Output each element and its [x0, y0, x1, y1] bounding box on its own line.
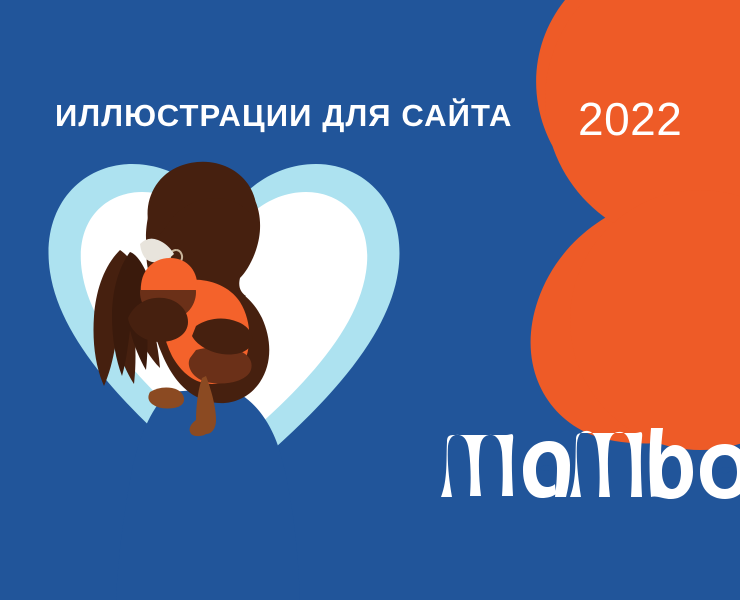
logo-wordmark-glyphs [441, 428, 740, 499]
brand-logo[interactable] [0, 0, 740, 600]
page-title: ИЛЛЮСТРАЦИИ ДЛЯ САЙТА [55, 100, 515, 131]
year-label: 2022 [578, 96, 682, 142]
poster-canvas: ИЛЛЮСТРАЦИИ ДЛЯ САЙТА 2022 [0, 0, 740, 600]
